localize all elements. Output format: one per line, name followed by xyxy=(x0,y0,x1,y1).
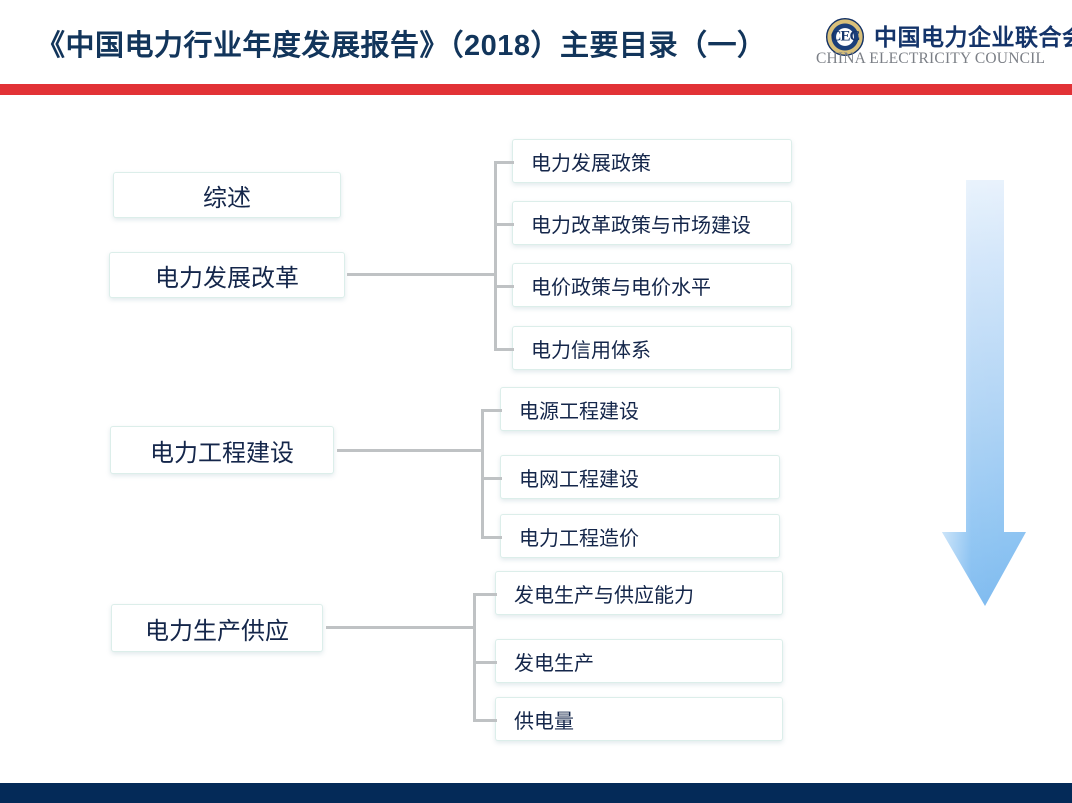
node-label: 发电生产 xyxy=(514,647,594,676)
node-label: 电力发展政策 xyxy=(531,147,651,176)
node-child-power-generation[interactable]: 发电生产 xyxy=(495,639,783,683)
connector-spine-group-1 xyxy=(494,161,497,351)
node-child-power-development-policy[interactable]: 电力发展政策 xyxy=(512,139,792,183)
connector-branch-g2-c2 xyxy=(481,477,502,480)
connector-branch-g2-c3 xyxy=(481,536,502,539)
connector-branch-g1-c1 xyxy=(494,161,514,164)
node-child-power-engineering-cost[interactable]: 电力工程造价 xyxy=(500,514,780,558)
node-parent-overview[interactable]: 综述 xyxy=(113,172,341,218)
connector-trunk-group-1 xyxy=(347,273,494,276)
node-label: 发电生产与供应能力 xyxy=(514,579,694,608)
node-label: 电力生产供应 xyxy=(145,611,289,646)
brand-name-en: CHINA ELECTRICITY COUNCIL xyxy=(816,50,1045,68)
node-label: 电力发展改革 xyxy=(155,258,299,293)
diagram-canvas: 综述 电力发展改革 电力发展政策 电力改革政策与市场建设 电价政策与电价水平 电… xyxy=(0,95,1072,783)
node-label: 电网工程建设 xyxy=(519,463,639,492)
down-arrow-icon xyxy=(942,180,1026,608)
page-title: 《中国电力行业年度发展报告》（2018）主要目录（一） xyxy=(36,22,767,64)
slide-root: 《中国电力行业年度发展报告》（2018）主要目录（一） CEC 中国电力企业联合… xyxy=(0,0,1072,803)
connector-branch-g1-c4 xyxy=(494,348,514,351)
node-label: 供电量 xyxy=(514,705,574,734)
node-label: 电价政策与电价水平 xyxy=(531,271,711,300)
node-label: 电源工程建设 xyxy=(519,395,639,424)
node-label: 电力信用体系 xyxy=(531,334,651,363)
connector-branch-g2-c1 xyxy=(481,409,502,412)
connector-spine-group-3 xyxy=(473,593,476,719)
node-parent-power-production-supply[interactable]: 电力生产供应 xyxy=(111,604,323,652)
brand-logo: CEC 中国电力企业联合会 CHINA ELECTRICITY COUNCIL xyxy=(814,14,1064,76)
slide-header: 《中国电力行业年度发展报告》（2018）主要目录（一） CEC 中国电力企业联合… xyxy=(0,0,1072,84)
connector-trunk-group-3 xyxy=(326,626,476,629)
node-child-power-source-engineering[interactable]: 电源工程建设 xyxy=(500,387,780,431)
node-child-grid-engineering[interactable]: 电网工程建设 xyxy=(500,455,780,499)
footer-bar xyxy=(0,783,1072,803)
header-red-rule xyxy=(0,84,1072,95)
node-child-electricity-supply-volume[interactable]: 供电量 xyxy=(495,697,783,741)
node-label: 电力工程造价 xyxy=(519,522,639,551)
node-child-generation-supply-capacity[interactable]: 发电生产与供应能力 xyxy=(495,571,783,615)
node-label: 电力改革政策与市场建设 xyxy=(531,209,751,238)
node-label: 综述 xyxy=(203,178,251,213)
connector-branch-g3-c3 xyxy=(473,719,497,722)
connector-branch-g3-c2 xyxy=(473,661,497,664)
connector-trunk-group-2 xyxy=(337,449,484,452)
node-child-power-reform-policy-market[interactable]: 电力改革政策与市场建设 xyxy=(512,201,792,245)
node-parent-power-engineering-construction[interactable]: 电力工程建设 xyxy=(110,426,334,474)
node-child-power-credit-system[interactable]: 电力信用体系 xyxy=(512,326,792,370)
connector-branch-g3-c1 xyxy=(473,593,497,596)
node-label: 电力工程建设 xyxy=(150,433,294,468)
node-child-electricity-price-policy-level[interactable]: 电价政策与电价水平 xyxy=(512,263,792,307)
connector-branch-g1-c2 xyxy=(494,223,514,226)
node-parent-power-development-reform[interactable]: 电力发展改革 xyxy=(109,252,345,298)
brand-name-cn: 中国电力企业联合会 xyxy=(874,18,1072,52)
connector-branch-g1-c3 xyxy=(494,285,514,288)
cec-seal-text: CEC xyxy=(831,29,860,46)
connector-spine-group-2 xyxy=(481,409,484,536)
